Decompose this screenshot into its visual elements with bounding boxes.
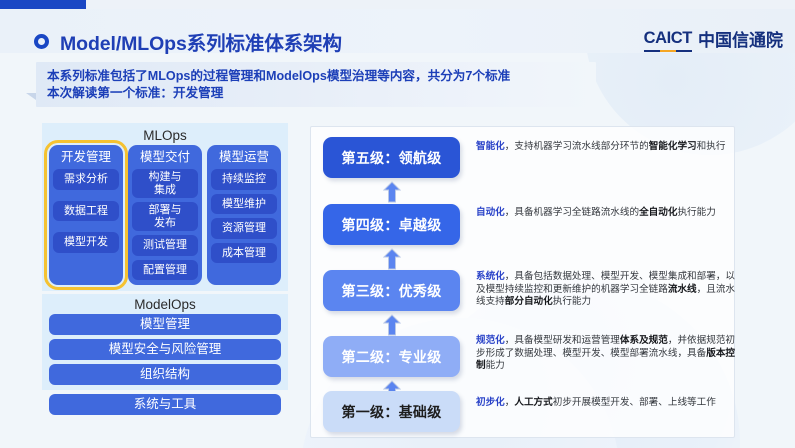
logo-chinese-text: 中国信通院 [698,32,783,52]
mlops-column-title: 模型运营 [211,148,277,169]
maturity-model-card: 第五级：领航级智能化，支持机器学习流水线部分环节的智能化学习和执行第四级：卓越级… [310,126,735,438]
subtitle-line-2: 本次解读第一个标准：开发管理 [47,85,596,102]
logo-latin-text: CAICT [644,29,692,47]
up-arrow-icon [383,314,401,336]
mlops-column-3[interactable]: 模型运营持续监控模型维护资源管理成本管理 [207,145,281,285]
mlops-item[interactable]: 构建与集成 [132,169,198,198]
maturity-level-description: 初步化，人工方式初步开展模型开发、部署、上线等工作 [476,397,738,410]
page-title: Model/MLOps系列标准体系架构 [60,27,342,56]
caict-logo: CAICT 中国信通院 [644,29,783,52]
mlops-columns: 开发管理需求分析数据工程模型开发模型交付构建与集成部署与发布测试管理配置管理模型… [47,145,283,285]
maturity-level-description: 系统化，具备包括数据处理、模型开发、模型集成和部署，以及模型持续监控和更新维护的… [476,271,738,309]
modelops-item[interactable]: 模型安全与风险管理 [49,339,281,360]
mlops-item[interactable]: 持续监控 [211,169,277,190]
subtitle-line-1: 本系列标准包括了MLOps的过程管理和ModelOps模型治理等内容，共分为7个… [47,68,596,85]
mlops-item[interactable]: 资源管理 [211,218,277,239]
maturity-level-description: 规范化，具备模型研发和运营管理体系及规范，并依据规范初步形成了数据处理、模型开发… [476,335,738,373]
ring-icon [34,34,49,49]
slide-root: Model/MLOps系列标准体系架构 CAICT 中国信通院 本系列标准包括了… [0,0,795,448]
subtitle-banner: 本系列标准包括了MLOps的过程管理和ModelOps模型治理等内容，共分为7个… [36,62,596,107]
mlops-column-1[interactable]: 开发管理需求分析数据工程模型开发 [49,145,123,285]
mlops-item[interactable]: 模型维护 [211,194,277,215]
mlops-item[interactable]: 数据工程 [53,201,119,222]
maturity-level-3[interactable]: 第三级：优秀级 [323,270,460,311]
title-row: Model/MLOps系列标准体系架构 [34,27,342,56]
architecture-panel: MLOps 开发管理需求分析数据工程模型开发模型交付构建与集成部署与发布测试管理… [42,123,288,415]
maturity-level-description: 自动化，具备机器学习全链路流水线的全自动化执行能力 [476,207,738,220]
modelops-label: ModelOps [47,295,283,314]
mlops-item[interactable]: 测试管理 [132,235,198,256]
mlops-item[interactable]: 需求分析 [53,169,119,190]
mlops-column-2[interactable]: 模型交付构建与集成部署与发布测试管理配置管理 [128,145,202,285]
mlops-item[interactable]: 模型开发 [53,232,119,253]
maturity-level-1[interactable]: 第一级：基础级 [323,391,460,432]
mlops-item[interactable]: 部署与发布 [132,202,198,231]
mlops-label: MLOps [47,126,283,145]
logo-latin-wrap: CAICT [644,29,692,52]
mlops-item[interactable]: 成本管理 [211,243,277,264]
maturity-level-description: 智能化，支持机器学习流水线部分环节的智能化学习和执行 [476,141,738,154]
up-arrow-icon [383,248,401,270]
systems-and-tools-item[interactable]: 系统与工具 [49,394,281,415]
slide-header: Model/MLOps系列标准体系架构 CAICT 中国信通院 [0,9,795,53]
mlops-column-title: 开发管理 [53,148,119,169]
maturity-level-4[interactable]: 第四级：卓越级 [323,204,460,245]
modelops-section: ModelOps 模型管理模型安全与风险管理组织结构 [42,294,288,390]
topbar-accent [0,0,86,9]
mlops-item[interactable]: 配置管理 [132,260,198,281]
modelops-item[interactable]: 组织结构 [49,364,281,385]
mlops-column-title: 模型交付 [132,148,198,169]
maturity-ladder: 第五级：领航级智能化，支持机器学习流水线部分环节的智能化学习和执行第四级：卓越级… [323,135,724,431]
topbar-strip [86,0,795,9]
banner-tail [26,93,36,100]
maturity-level-5[interactable]: 第五级：领航级 [323,137,460,178]
logo-underbar [644,50,692,53]
mlops-section: MLOps 开发管理需求分析数据工程模型开发模型交付构建与集成部署与发布测试管理… [42,123,288,291]
modelops-item[interactable]: 模型管理 [49,314,281,335]
up-arrow-icon [383,181,401,203]
maturity-level-2[interactable]: 第二级：专业级 [323,336,460,377]
